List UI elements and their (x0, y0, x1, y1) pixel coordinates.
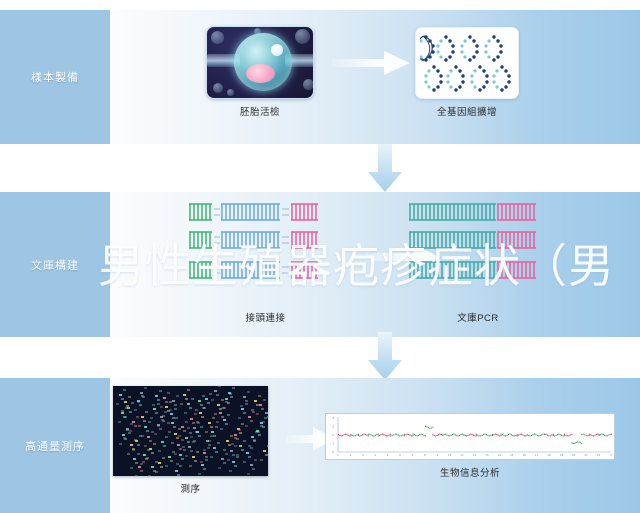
row-body-sample-preparation: 胚胎活檢 (110, 10, 640, 144)
dna-ladder-library-pcr (408, 200, 548, 305)
svg-text:X: X (610, 453, 612, 457)
step-caption: 胚胎活檢 (206, 104, 314, 118)
svg-text:7: 7 (412, 453, 414, 457)
step-caption: 測序 (113, 481, 268, 495)
svg-text:3: 3 (362, 453, 364, 457)
svg-text:17: 17 (535, 453, 539, 457)
svg-text:15: 15 (510, 453, 514, 457)
row-label-sample-preparation: 樣本製備 (0, 10, 110, 144)
svg-text:3: 3 (332, 425, 334, 429)
row-label-text: 樣本製備 (31, 69, 79, 85)
workflow-row-sample-preparation: 樣本製備 胚胎活檢 (0, 10, 640, 144)
step-sequencing: 測序 (113, 386, 268, 495)
svg-text:5: 5 (387, 453, 389, 457)
down-arrow-row2-to-row3 (368, 332, 402, 380)
svg-text:1: 1 (337, 453, 339, 457)
inner-cell-mass-shape (246, 64, 275, 83)
svg-text:18: 18 (547, 453, 551, 457)
svg-text:0: 0 (332, 450, 334, 454)
svg-text:14: 14 (498, 453, 502, 457)
svg-text:2: 2 (332, 433, 334, 437)
svg-text:22: 22 (597, 453, 601, 457)
polar-body-shape (271, 44, 283, 56)
row-body-library-construction: 接頭連接 (110, 192, 640, 337)
svg-text:4: 4 (374, 453, 376, 457)
step-caption: 接頭連接 (188, 310, 343, 324)
dna-helix-image (415, 27, 519, 99)
svg-text:12: 12 (473, 453, 477, 457)
svg-text:21: 21 (585, 453, 589, 457)
svg-text:11: 11 (460, 453, 464, 457)
svg-text:9: 9 (436, 453, 438, 457)
svg-text:4: 4 (332, 416, 334, 420)
row-label-high-throughput-sequencing: 高通量測序 (0, 378, 110, 513)
svg-text:10: 10 (448, 453, 452, 457)
step-library-pcr: 文庫PCR (408, 200, 548, 324)
svg-text:6: 6 (399, 453, 401, 457)
step-whole-genome-amplification: 全基因組擴增 (415, 27, 519, 118)
down-arrow-row1-to-row2 (368, 144, 402, 192)
workflow-row-high-throughput-sequencing: 高通量測序 (0, 378, 640, 513)
svg-text:13: 13 (485, 453, 489, 457)
row-body-high-throughput-sequencing: 測序 (110, 378, 640, 513)
step-caption: 全基因組擴增 (415, 104, 519, 118)
right-arrow-icon (332, 50, 410, 76)
svg-text:20: 20 (572, 453, 576, 457)
step-caption: 生物信息分析 (325, 465, 615, 479)
workflow-figure: 樣本製備 胚胎活檢 (0, 0, 640, 513)
row-label-library-construction: 文庫構建 (0, 192, 110, 337)
step-caption: 文庫PCR (408, 310, 548, 324)
step-embryo-biopsy: 胚胎活檢 (206, 26, 314, 118)
step-bioinformatics-analysis: 01234 1234567891011121314151617181920212… (325, 413, 615, 479)
row-label-text: 文庫構建 (31, 257, 79, 273)
svg-text:2: 2 (350, 453, 352, 457)
svg-text:16: 16 (522, 453, 526, 457)
step-adapter-ligation: 接頭連接 (188, 200, 343, 324)
svg-text:19: 19 (560, 453, 564, 457)
svg-text:8: 8 (424, 453, 426, 457)
sequencing-flowcell-image (113, 386, 268, 476)
dna-ladder-adapter-ligation (188, 200, 343, 305)
bioinformatics-cnv-chart: 01234 1234567891011121314151617181920212… (325, 413, 615, 460)
row-label-text: 高通量測序 (25, 438, 85, 454)
workflow-row-library-construction: 文庫構建 (0, 192, 640, 337)
svg-text:1: 1 (332, 442, 334, 446)
embryo-biopsy-image (206, 26, 314, 99)
